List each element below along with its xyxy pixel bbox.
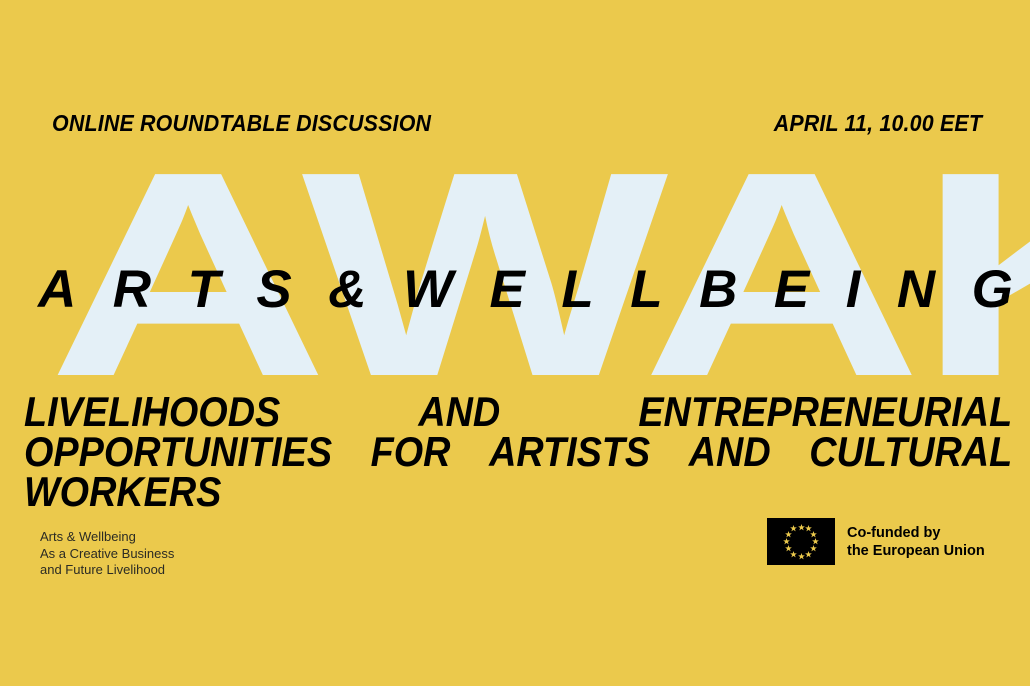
title-letter-3: S — [256, 263, 291, 316]
header-row: ONLINE ROUNDTABLE DISCUSSION APRIL 11, 1… — [52, 106, 982, 140]
poster-canvas: ONLINE ROUNDTABLE DISCUSSION APRIL 11, 1… — [0, 0, 1030, 686]
subtitle-line-1: OPPORTUNITIESFORARTISTSANDCULTURAL — [24, 432, 1012, 472]
title-letter-13: G — [972, 263, 1013, 316]
title-letter-6: E — [490, 263, 525, 316]
eu-logo-line-1: Co-funded by — [847, 524, 985, 542]
title-letter-11: I — [846, 263, 861, 316]
footer-caption-line-1: Arts & Wellbeing — [40, 529, 174, 546]
eu-cofunded-logo: Co-funded by the European Union — [767, 518, 985, 565]
subtitle-line-0: LIVELIHOODSANDENTREPRENEURIAL — [24, 392, 1012, 432]
title-letter-9: B — [699, 263, 737, 316]
subtitle-word: OPPORTUNITIES — [24, 432, 332, 472]
subtitle-word: WORKERS — [24, 472, 221, 512]
title-letter-4: & — [328, 263, 366, 316]
event-type-label: ONLINE ROUNDTABLE DISCUSSION — [52, 110, 431, 137]
event-datetime-label: APRIL 11, 10.00 EET — [774, 110, 982, 137]
footer-caption-line-2: As a Creative Business — [40, 546, 174, 563]
title-letter-8: L — [630, 263, 662, 316]
title-letter-0: A — [38, 263, 76, 316]
title-letter-10: E — [774, 263, 809, 316]
subtitle-word: ARTISTS — [489, 432, 650, 472]
subtitle-word: LIVELIHOODS — [24, 392, 280, 432]
eu-logo-line-2: the European Union — [847, 542, 985, 560]
eu-logo-text: Co-funded by the European Union — [847, 524, 985, 560]
title-letter-5: W — [403, 263, 453, 316]
eu-flag-icon — [767, 518, 835, 565]
subtitle-word: AND — [689, 432, 771, 472]
title-letter-12: N — [897, 263, 935, 316]
subtitle-line-2: WORKERS — [24, 472, 913, 512]
subtitle-word: AND — [418, 392, 500, 432]
footer-caption-line-3: and Future Livelihood — [40, 562, 174, 579]
title-letter-2: T — [188, 263, 220, 316]
subtitle-block: LIVELIHOODSANDENTREPRENEURIALOPPORTUNITI… — [24, 392, 1012, 512]
overlay-title: ARTS&WELLBEING — [38, 263, 1013, 316]
subtitle-word: CULTURAL — [809, 432, 1012, 472]
subtitle-word: ENTREPRENEURIAL — [638, 392, 1012, 432]
title-letter-1: R — [113, 263, 151, 316]
footer-caption: Arts & Wellbeing As a Creative Business … — [40, 529, 174, 579]
title-letter-7: L — [561, 263, 593, 316]
subtitle-word: FOR — [371, 432, 451, 472]
